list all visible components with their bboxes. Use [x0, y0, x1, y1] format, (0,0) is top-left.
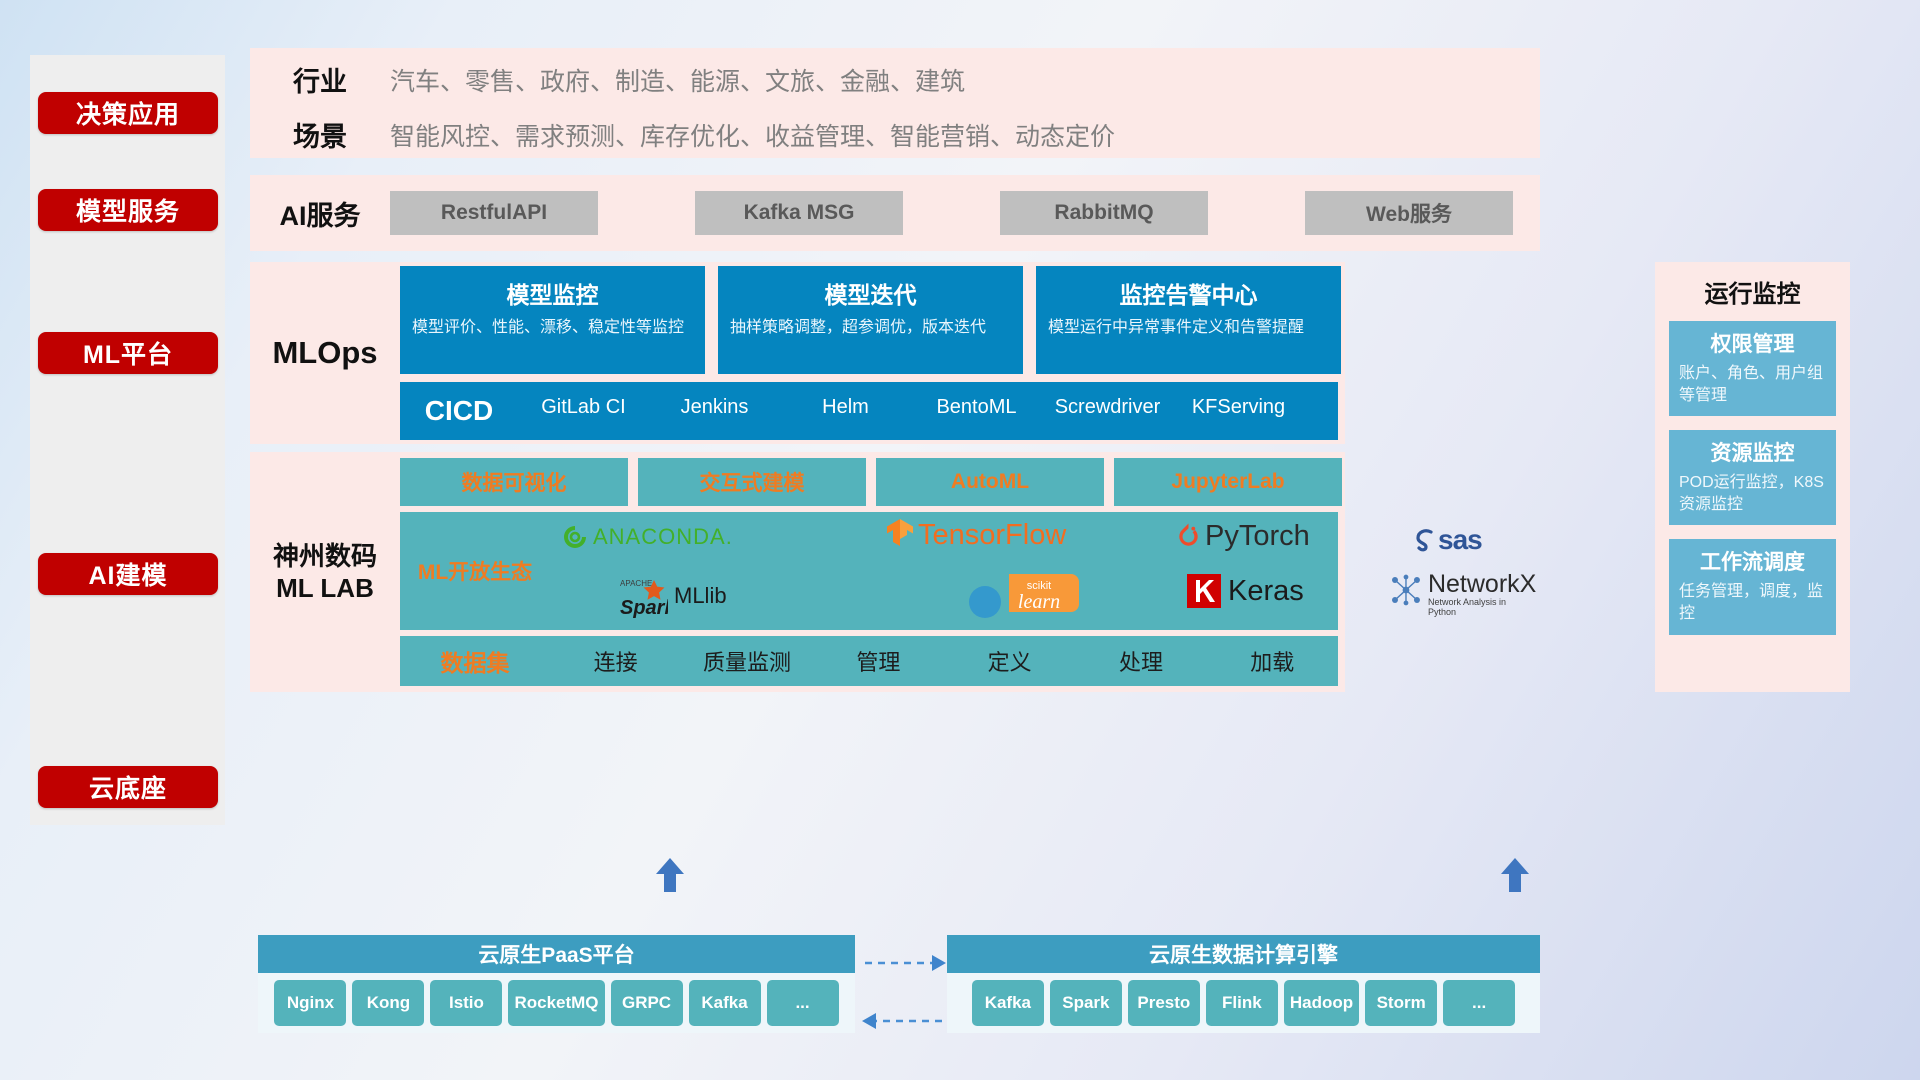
data-engine-chip-group: Kafka Spark Presto Flink Hadoop Storm ..… — [947, 973, 1540, 1033]
paas-chip-nginx[interactable]: Nginx — [274, 980, 346, 1026]
data-chip-kafka[interactable]: Kafka — [972, 980, 1044, 1026]
tab-automl[interactable]: AutoML — [876, 458, 1104, 506]
card-title: 资源监控 — [1679, 437, 1826, 467]
svg-text:Spark: Spark — [620, 597, 668, 618]
dataset-item-connect[interactable]: 连接 — [550, 645, 681, 677]
scikit-learn-logo: scikit learn — [965, 572, 1085, 618]
keras-icon — [1187, 574, 1221, 608]
dataset-row: 数据集 连接 质量监测 管理 定义 处理 加载 — [400, 636, 1338, 686]
modeling-tab-group: 数据可视化 交互式建模 AutoML JupyterLab — [400, 458, 1345, 506]
networkx-logo: NetworkX Network Analysis in Python — [1388, 572, 1536, 617]
ml-lab-label: 神州数码 ML LAB — [250, 540, 400, 605]
rail-item-ai-modeling[interactable]: AI建模 — [38, 553, 218, 595]
svg-text:APACHE: APACHE — [620, 579, 652, 588]
card-desc: 任务管理，调度，监控 — [1679, 581, 1826, 624]
cicd-bar: CICD GitLab CI Jenkins Helm BentoML Scre… — [400, 382, 1338, 440]
tensorflow-logo: TensorFlow — [885, 518, 1066, 552]
service-chip-restfulapi[interactable]: RestfulAPI — [390, 191, 598, 235]
paas-chip-kong[interactable]: Kong — [352, 980, 424, 1026]
runtime-monitoring-title: 运行监控 — [1669, 274, 1836, 309]
mlops-card-alert-center[interactable]: 监控告警中心 模型运行中异常事件定义和告警提醒 — [1036, 266, 1341, 374]
scenario-label: 场景 — [250, 115, 390, 154]
card-desc: POD运行监控，K8S资源监控 — [1679, 472, 1826, 515]
pytorch-label: PyTorch — [1205, 520, 1310, 553]
monitor-card-resource[interactable]: 资源监控 POD运行监控，K8S资源监控 — [1669, 430, 1836, 525]
pytorch-icon — [1175, 522, 1202, 552]
ml-lab-label-line1: 神州数码 — [250, 540, 400, 573]
anaconda-dot: . — [726, 524, 732, 550]
left-rail — [30, 55, 225, 825]
dataset-label: 数据集 — [400, 644, 550, 678]
paas-up-arrow-icon — [655, 858, 685, 892]
cicd-item-kfserving[interactable]: KFServing — [1173, 382, 1304, 419]
ai-service-label: AI服务 — [250, 194, 390, 233]
rail-item-decision-app[interactable]: 决策应用 — [38, 92, 218, 134]
svg-text:learn: learn — [1018, 591, 1060, 613]
cloud-native-paas-block: 云原生PaaS平台 Nginx Kong Istio RocketMQ GRPC… — [258, 935, 855, 1033]
paas-chip-group: Nginx Kong Istio RocketMQ GRPC Kafka ... — [258, 973, 855, 1033]
data-engine-up-arrow-icon — [1500, 858, 1530, 892]
service-chip-web-service[interactable]: Web服务 — [1305, 191, 1513, 235]
cicd-label: CICD — [400, 395, 518, 427]
card-title: 模型监控 — [412, 276, 693, 310]
tab-jupyterlab[interactable]: JupyterLab — [1114, 458, 1342, 506]
paas-chip-istio[interactable]: Istio — [430, 980, 502, 1026]
card-desc: 抽样策略调整，超参调优，版本迭代 — [730, 317, 1011, 339]
scikit-learn-icon: scikit learn — [965, 572, 1085, 618]
keras-logo: Keras — [1187, 574, 1304, 608]
rail-item-model-service[interactable]: 模型服务 — [38, 189, 218, 231]
sas-icon — [1412, 527, 1438, 553]
cloud-native-data-engine-block: 云原生数据计算引擎 Kafka Spark Presto Flink Hadoo… — [947, 935, 1540, 1033]
tensorflow-label: TensorFlow — [918, 519, 1066, 552]
dataset-item-process[interactable]: 处理 — [1075, 645, 1206, 677]
card-desc: 模型运行中异常事件定义和告警提醒 — [1048, 317, 1329, 339]
keras-label: Keras — [1228, 575, 1304, 608]
industry-row: 行业 汽车、零售、政府、制造、能源、文旅、金融、建筑 — [250, 52, 1540, 107]
networkx-icon — [1388, 572, 1424, 608]
tab-interactive-modeling[interactable]: 交互式建模 — [638, 458, 866, 506]
data-chip-flink[interactable]: Flink — [1206, 980, 1278, 1026]
data-chip-hadoop[interactable]: Hadoop — [1284, 980, 1359, 1026]
ml-platform-band: MLOps 模型监控 模型评价、性能、漂移、稳定性等监控 模型迭代 抽样策略调整… — [250, 262, 1345, 444]
mllib-label: MLlib — [674, 583, 727, 609]
sas-logo: sas — [1412, 524, 1482, 556]
paas-chip-rocketmq[interactable]: RocketMQ — [508, 980, 604, 1026]
monitor-card-workflow[interactable]: 工作流调度 任务管理，调度，监控 — [1669, 539, 1836, 634]
cicd-item-helm[interactable]: Helm — [780, 382, 911, 419]
service-chip-kafka-msg[interactable]: Kafka MSG — [695, 191, 903, 235]
data-chip-presto[interactable]: Presto — [1128, 980, 1200, 1026]
spark-mllib-logo: APACHE Spark MLlib — [620, 574, 727, 618]
card-title: 工作流调度 — [1679, 546, 1826, 576]
paas-chip-kafka[interactable]: Kafka — [689, 980, 761, 1026]
paas-chip-more[interactable]: ... — [767, 980, 839, 1026]
anaconda-icon — [562, 524, 588, 550]
mlops-card-model-iteration[interactable]: 模型迭代 抽样策略调整，超参调优，版本迭代 — [718, 266, 1023, 374]
runtime-monitoring-panel: 运行监控 权限管理 账户、角色、用户组等管理 资源监控 POD运行监控，K8S资… — [1655, 262, 1850, 692]
dataset-item-load[interactable]: 加载 — [1207, 645, 1338, 677]
decision-application-band: 行业 汽车、零售、政府、制造、能源、文旅、金融、建筑 场景 智能风控、需求预测、… — [250, 48, 1540, 158]
paas-title: 云原生PaaS平台 — [258, 935, 855, 973]
rail-item-cloud-base[interactable]: 云底座 — [38, 766, 218, 808]
ml-lab-label-line2: ML LAB — [250, 572, 400, 605]
ml-ecosystem-label: ML开放生态 — [400, 556, 550, 586]
data-engine-title: 云原生数据计算引擎 — [947, 935, 1540, 973]
model-service-band: AI服务 RestfulAPI Kafka MSG RabbitMQ Web服务 — [250, 175, 1540, 251]
card-title: 权限管理 — [1679, 328, 1826, 358]
anaconda-label: ANACONDA — [593, 524, 726, 550]
cicd-item-gitlab-ci[interactable]: GitLab CI — [518, 382, 649, 419]
cicd-item-jenkins[interactable]: Jenkins — [649, 382, 780, 419]
spark-icon: APACHE Spark — [620, 574, 668, 618]
mlops-label: MLOps — [250, 335, 400, 371]
sas-label: sas — [1438, 524, 1482, 556]
ml-ecosystem-row: ML开放生态 ANACONDA . — [400, 512, 1338, 630]
rail-item-ml-platform[interactable]: ML平台 — [38, 332, 218, 374]
card-title: 监控告警中心 — [1048, 276, 1329, 310]
pytorch-logo: PyTorch — [1175, 520, 1310, 553]
ai-modeling-band: 神州数码 ML LAB 数据可视化 交互式建模 AutoML JupyterLa… — [250, 452, 1345, 692]
cloud-exchange-arrows-icon — [860, 945, 950, 1035]
cicd-item-bentoml[interactable]: BentoML — [911, 382, 1042, 419]
scenario-row: 场景 智能风控、需求预测、库存优化、收益管理、智能营销、动态定价 — [250, 107, 1540, 162]
dataset-item-manage[interactable]: 管理 — [813, 645, 944, 677]
networkx-subtitle: Network Analysis in Python — [1428, 597, 1536, 617]
dataset-item-quality[interactable]: 质量监测 — [681, 645, 812, 677]
ai-service-chip-group: RestfulAPI Kafka MSG RabbitMQ Web服务 — [390, 191, 1513, 235]
card-title: 模型迭代 — [730, 276, 1011, 310]
networkx-label: NetworkX — [1428, 572, 1536, 597]
mlops-card-model-monitoring[interactable]: 模型监控 模型评价、性能、漂移、稳定性等监控 — [400, 266, 705, 374]
dataset-item-define[interactable]: 定义 — [944, 645, 1075, 677]
mlops-card-group: 模型监控 模型评价、性能、漂移、稳定性等监控 模型迭代 抽样策略调整，超参调优，… — [400, 266, 1345, 374]
data-chip-storm[interactable]: Storm — [1365, 980, 1437, 1026]
ml-ecosystem-logo-area: ANACONDA . TensorFlow — [550, 512, 1338, 630]
tab-data-visualization[interactable]: 数据可视化 — [400, 458, 628, 506]
card-desc: 账户、角色、用户组等管理 — [1679, 363, 1826, 406]
paas-chip-grpc[interactable]: GRPC — [611, 980, 683, 1026]
data-chip-more[interactable]: ... — [1443, 980, 1515, 1026]
card-desc: 模型评价、性能、漂移、稳定性等监控 — [412, 317, 693, 339]
scenario-values: 智能风控、需求预测、库存优化、收益管理、智能营销、动态定价 — [390, 117, 1115, 153]
industry-label: 行业 — [250, 60, 390, 99]
monitor-card-permission[interactable]: 权限管理 账户、角色、用户组等管理 — [1669, 321, 1836, 416]
data-chip-spark[interactable]: Spark — [1050, 980, 1122, 1026]
industry-values: 汽车、零售、政府、制造、能源、文旅、金融、建筑 — [390, 62, 965, 98]
anaconda-logo: ANACONDA . — [562, 524, 732, 550]
diagram-canvas: 决策应用 模型服务 ML平台 AI建模 云底座 行业 汽车、零售、政府、制造、能… — [0, 0, 1920, 1080]
service-chip-rabbitmq[interactable]: RabbitMQ — [1000, 191, 1208, 235]
cicd-item-screwdriver[interactable]: Screwdriver — [1042, 382, 1173, 419]
tensorflow-icon — [885, 518, 915, 552]
